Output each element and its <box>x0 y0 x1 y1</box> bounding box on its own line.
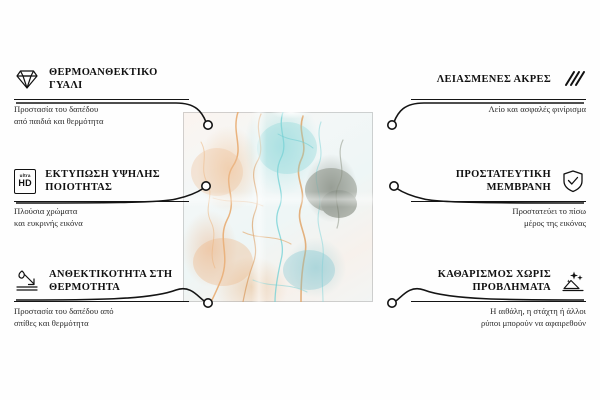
feature-header: ΠΡΟΣΤΑΤΕΥΤΙΚΗ ΜΕΜΒΡΑΝΗ <box>411 166 586 196</box>
feature-high-quality-print: ultra HD ΕΚΤΥΠΩΣΗ ΥΨΗΛΗΣ ΠΟΙΟΤΗΤΑΣ Πλούσ… <box>14 166 189 229</box>
marble-veins <box>183 112 373 302</box>
easy-clean-icon <box>560 268 586 294</box>
shield-check-icon <box>560 168 586 194</box>
glass-panel-front <box>183 112 373 302</box>
feature-title: ΕΚΤΥΠΩΣΗ ΥΨΗΛΗΣ ΠΟΙΟΤΗΤΑΣ <box>45 168 189 194</box>
divider <box>411 201 586 202</box>
feature-header: ΛΕΙΑΣΜΕΝΕΣ ΑΚΡΕΣ <box>411 64 586 94</box>
feature-description: Πλούσια χρώματα και ευκρινής εικόνα <box>14 206 189 229</box>
ultra-hd-icon-hd-label: HD <box>18 179 31 188</box>
divider <box>411 99 586 100</box>
feature-protective-film: ΠΡΟΣΤΑΤΕΥΤΙΚΗ ΜΕΜΒΡΑΝΗ Προστατεύει το πί… <box>411 166 586 229</box>
feature-description: Προστασία του δαπέδου από σπίθες και θερ… <box>14 306 189 329</box>
feature-easy-cleaning: ΚΑΘΑΡΙΣΜΟΣ ΧΩΡΙΣ ΠΡΟΒΛΗΜΑΤΑ Η αιθάλη, η … <box>411 266 586 329</box>
feature-heat-resistant-glass: ΘΕΡΜΟΑΝΘΕΚΤΙΚΟ ΓΥΑΛΙ Προστασία του δαπέδ… <box>14 64 189 127</box>
divider <box>14 99 189 100</box>
feature-polished-edges: ΛΕΙΑΣΜΕΝΕΣ ΑΚΡΕΣ Λείο και ασφαλές φινίρι… <box>411 64 586 116</box>
feature-header: ΑΝΘΕΚΤΙΚΟΤΗΤΑ ΣΤΗ ΘΕΡΜΟΤΗΤΑ <box>14 266 189 296</box>
feature-description: Προστασία του δαπέδου από παιδιά και θερ… <box>14 104 189 127</box>
feature-description: Η αιθάλη, η στάχτη ή άλλοι ρύποι μπορούν… <box>411 306 586 329</box>
divider <box>411 301 586 302</box>
feature-header: ultra HD ΕΚΤΥΠΩΣΗ ΥΨΗΛΗΣ ΠΟΙΟΤΗΤΑΣ <box>14 166 189 196</box>
infographic-stage: ΘΕΡΜΟΑΝΘΕΚΤΙΚΟ ΓΥΑΛΙ Προστασία του δαπέδ… <box>0 0 600 400</box>
heat-resistance-icon <box>14 268 40 294</box>
product-image <box>183 112 415 302</box>
feature-title: ΑΝΘΕΚΤΙΚΟΤΗΤΑ ΣΤΗ ΘΕΡΜΟΤΗΤΑ <box>49 268 189 294</box>
feature-header: ΚΑΘΑΡΙΣΜΟΣ ΧΩΡΙΣ ΠΡΟΒΛΗΜΑΤΑ <box>411 266 586 296</box>
feature-title: ΠΡΟΣΤΑΤΕΥΤΙΚΗ ΜΕΜΒΡΑΝΗ <box>411 168 551 194</box>
divider <box>14 301 189 302</box>
polished-edges-icon <box>560 66 586 92</box>
ultra-hd-icon: ultra HD <box>14 169 36 194</box>
divider <box>14 201 189 202</box>
feature-title: ΘΕΡΜΟΑΝΘΕΚΤΙΚΟ ΓΥΑΛΙ <box>49 66 189 92</box>
diamond-icon <box>14 66 40 92</box>
feature-header: ΘΕΡΜΟΑΝΘΕΚΤΙΚΟ ΓΥΑΛΙ <box>14 64 189 94</box>
feature-heat-durability: ΑΝΘΕΚΤΙΚΟΤΗΤΑ ΣΤΗ ΘΕΡΜΟΤΗΤΑ Προστασία το… <box>14 266 189 329</box>
feature-title: ΛΕΙΑΣΜΕΝΕΣ ΑΚΡΕΣ <box>437 73 551 86</box>
feature-title: ΚΑΘΑΡΙΣΜΟΣ ΧΩΡΙΣ ΠΡΟΒΛΗΜΑΤΑ <box>411 268 551 294</box>
feature-description: Λείο και ασφαλές φινίρισμα <box>411 104 586 116</box>
feature-description: Προστατεύει το πίσω μέρος της εικόνας <box>411 206 586 229</box>
